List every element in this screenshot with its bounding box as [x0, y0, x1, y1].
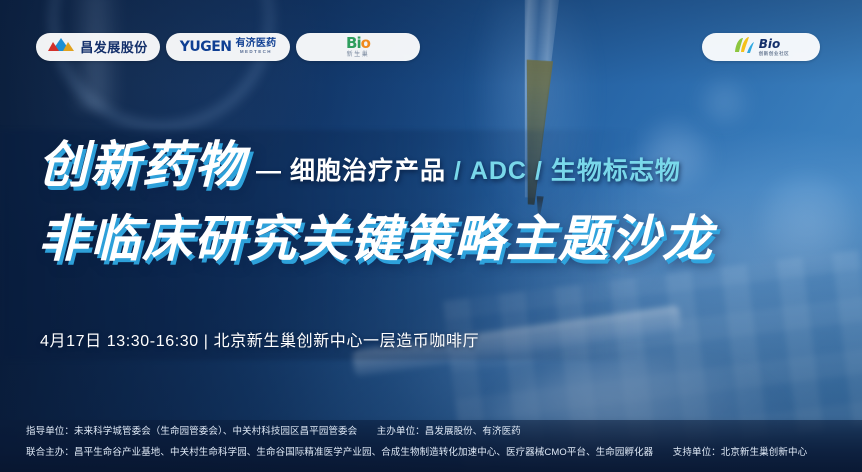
logo-hibio-wordmark: Bio [759, 38, 790, 50]
logo-hibio[interactable]: Bio 创新创业社区 [702, 33, 820, 61]
footer-host-units: 主办单位：昌发展股份、有济医药 [377, 426, 521, 437]
subtitle-separator-2: / [535, 157, 543, 185]
logo-yugen-wordmark: YUGEN [180, 40, 232, 54]
footer-line-2: 联合主办：昌平生命谷产业基地、中关村生命科学园、生命谷国际精准医学产业园、合成生… [0, 448, 862, 458]
subtitle-dash: — [256, 157, 282, 185]
logo-yugen-medtech[interactable]: YUGEN 有济医药 MEDTECH [166, 33, 290, 61]
logo-changfa-label: 昌发展股份 [80, 41, 148, 54]
logo-bio-wordmark: Bio [346, 36, 370, 51]
footer-organizers: 指导单位：未来科学城管委会（生命园管委会）、中关村科技园区昌平园管委会 主办单位… [0, 420, 862, 472]
subtitle-cell-therapy: 细胞治疗产品 [290, 157, 446, 185]
event-poster: 昌发展股份 YUGEN 有济医药 MEDTECH Bio 新生巢 [0, 0, 862, 472]
logo-hibio-tagline: 创新创业社区 [759, 52, 790, 57]
footer-guidance-units: 指导单位：未来科学城管委会（生命园管委会）、中关村科技园区昌平园管委会 [26, 426, 357, 437]
footer-support-units: 支持单位：北京新生巢创新中心 [673, 447, 807, 458]
hibio-leaf-icon [733, 36, 755, 59]
logo-changfazhangufen[interactable]: 昌发展股份 [36, 33, 160, 61]
logo-bio-xinshengchao[interactable]: Bio 新生巢 [296, 33, 420, 61]
sponsor-logo-bar: 昌发展股份 YUGEN 有济医药 MEDTECH Bio 新生巢 [0, 33, 862, 63]
headline-subtitle: — 细胞治疗产品 / ADC / 生物标志物 [256, 159, 681, 184]
headline-block: 创新药物 — 细胞治疗产品 / ADC / 生物标志物 非临床研究关键策略主题沙… [38, 140, 714, 266]
subtitle-biomarker: 生物标志物 [551, 157, 681, 185]
logo-bio-cn-label: 新生巢 [347, 52, 370, 58]
footer-coorganizer-units: 联合主办：昌平生命谷产业基地、中关村生命科学园、生命谷国际精准医学产业园、合成生… [26, 447, 653, 458]
logo-yugen-en-label: MEDTECH [240, 50, 272, 55]
headline-main-title: 创新药物 [38, 140, 246, 190]
headline-main-title-line-2: 非临床研究关键策略主题沙龙 [38, 212, 714, 266]
logo-yugen-cn-label: 有济医药 [235, 39, 276, 49]
footer-line-1: 指导单位：未来科学城管委会（生命园管委会）、中关村科技园区昌平园管委会 主办单位… [0, 427, 862, 437]
subtitle-adc: ADC [470, 157, 527, 185]
event-datetime-venue: 4月17日 13:30-16:30 | 北京新生巢创新中心一层造币咖啡厅 [40, 327, 479, 351]
headline-line-1: 创新药物 — 细胞治疗产品 / ADC / 生物标志物 [38, 140, 714, 202]
subtitle-separator-1: / [454, 157, 462, 185]
changfa-triangles-icon [48, 37, 74, 58]
